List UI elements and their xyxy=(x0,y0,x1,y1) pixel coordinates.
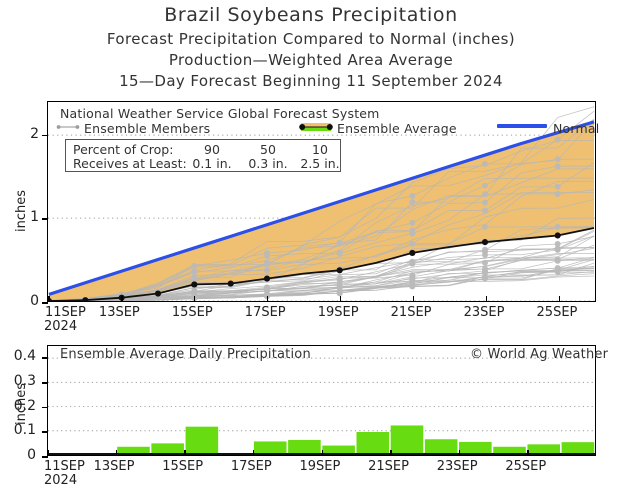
top-xtick-mark xyxy=(194,296,196,302)
bottom-xtick-mark xyxy=(527,450,529,456)
bottom-xtick-13SEP: 13SEP xyxy=(94,459,135,474)
bottom-xtick-mark xyxy=(253,450,255,456)
bottom-ytick-mark xyxy=(42,382,48,384)
crop-amount-label: Receives at Least: xyxy=(73,156,187,171)
bottom-ytick-mark xyxy=(42,357,48,359)
legend-ensemble-average-label: Ensemble Average xyxy=(337,121,457,136)
chart-title-line4: 15—Day Forecast Beginning 11 September 2… xyxy=(0,72,622,90)
chart-title-line2: Forecast Precipitation Compared to Norma… xyxy=(0,30,622,48)
bottom-ytick-mark xyxy=(42,456,48,458)
top-xtick-mark xyxy=(121,296,123,302)
top-xtick-mark xyxy=(486,296,488,302)
crop-amount-90: 0.1 in. xyxy=(190,156,234,171)
crop-amount-50: 0.3 in. xyxy=(246,156,290,171)
legend-header: National Weather Service Global Forecast… xyxy=(60,106,380,121)
bottom-xtick-mark xyxy=(322,450,324,456)
bottom-xtick-25SEP: 25SEP xyxy=(505,459,546,474)
crop-amount-10: 2.5 in. xyxy=(298,156,342,171)
bottom-xtick-15SEP: 15SEP xyxy=(162,459,203,474)
crop-percent-50: 50 xyxy=(246,142,290,157)
bottom-ytick-mark xyxy=(42,407,48,409)
chart-title-line1: Brazil Soybeans Precipitation xyxy=(0,4,622,26)
ensemble-members-marker-icon xyxy=(56,125,80,129)
bottom-ytick-mark xyxy=(42,431,48,433)
daily-precip-plot-area xyxy=(48,346,595,455)
top-xtick-23SEP: 23SEP xyxy=(464,305,505,320)
top-ytick-2: 2 xyxy=(5,126,39,142)
top-ytick-0: 0 xyxy=(5,293,39,309)
bottom-xtick-11SEP: 11SEP xyxy=(44,459,85,474)
top-ytick-mark xyxy=(42,218,48,220)
top-xtick-11SEP: 11SEP xyxy=(45,305,86,320)
crop-percent-label: Percent of Crop: xyxy=(73,142,173,157)
top-xtick-19SEP: 19SEP xyxy=(318,305,359,320)
top-xtick-21SEP: 21SEP xyxy=(391,305,432,320)
crop-threshold-table: Percent of Crop: 90 50 10 Receives at Le… xyxy=(65,139,341,172)
crop-percent-90: 90 xyxy=(190,142,234,157)
crop-percent-10: 10 xyxy=(298,142,342,157)
normal-line-marker-icon xyxy=(497,124,547,128)
top-xtick-25SEP: 25SEP xyxy=(537,305,578,320)
bottom-ytick-0_1: 0.1 xyxy=(2,422,36,438)
top-ytick-mark xyxy=(42,135,48,137)
ensemble-average-marker-icon xyxy=(299,122,333,132)
top-axis-year: 2024 xyxy=(44,319,77,334)
bottom-ytick-0: 0 xyxy=(2,447,36,463)
bottom-ytick-0_2: 0.2 xyxy=(2,398,36,414)
bottom-xtick-mark xyxy=(459,450,461,456)
bottom-panel-title: Ensemble Average Daily Precipitation xyxy=(60,347,311,362)
copyright-label: © World Ag Weather xyxy=(470,347,608,362)
bottom-xtick-mark xyxy=(47,450,49,456)
legend-normal-label: Normal xyxy=(553,121,599,136)
bottom-xtick-23SEP: 23SEP xyxy=(437,459,478,474)
top-ytick-mark xyxy=(42,302,48,304)
bottom-xtick-21SEP: 21SEP xyxy=(368,459,409,474)
bottom-xtick-mark xyxy=(116,450,118,456)
chart-title-line3: Production—Weighted Area Average xyxy=(0,51,622,69)
bottom-xtick-17SEP: 17SEP xyxy=(231,459,272,474)
top-xtick-15SEP: 15SEP xyxy=(172,305,213,320)
bottom-ytick-0_4: 0.4 xyxy=(2,348,36,364)
bottom-xtick-mark xyxy=(184,450,186,456)
top-xtick-17SEP: 17SEP xyxy=(245,305,286,320)
top-xtick-mark xyxy=(340,296,342,302)
legend-ensemble-members-label: Ensemble Members xyxy=(84,121,210,136)
bottom-axis-year: 2024 xyxy=(44,473,77,488)
top-xtick-mark xyxy=(413,296,415,302)
top-xtick-mark xyxy=(267,296,269,302)
bottom-xtick-19SEP: 19SEP xyxy=(300,459,341,474)
bottom-xtick-mark xyxy=(390,450,392,456)
bottom-ytick-0_3: 0.3 xyxy=(2,373,36,389)
chart-page: Brazil Soybeans Precipitation Forecast P… xyxy=(0,0,622,483)
top-xtick-13SEP: 13SEP xyxy=(99,305,140,320)
top-xtick-mark xyxy=(48,296,50,302)
top-ytick-1: 1 xyxy=(5,209,39,225)
top-xtick-mark xyxy=(559,296,561,302)
